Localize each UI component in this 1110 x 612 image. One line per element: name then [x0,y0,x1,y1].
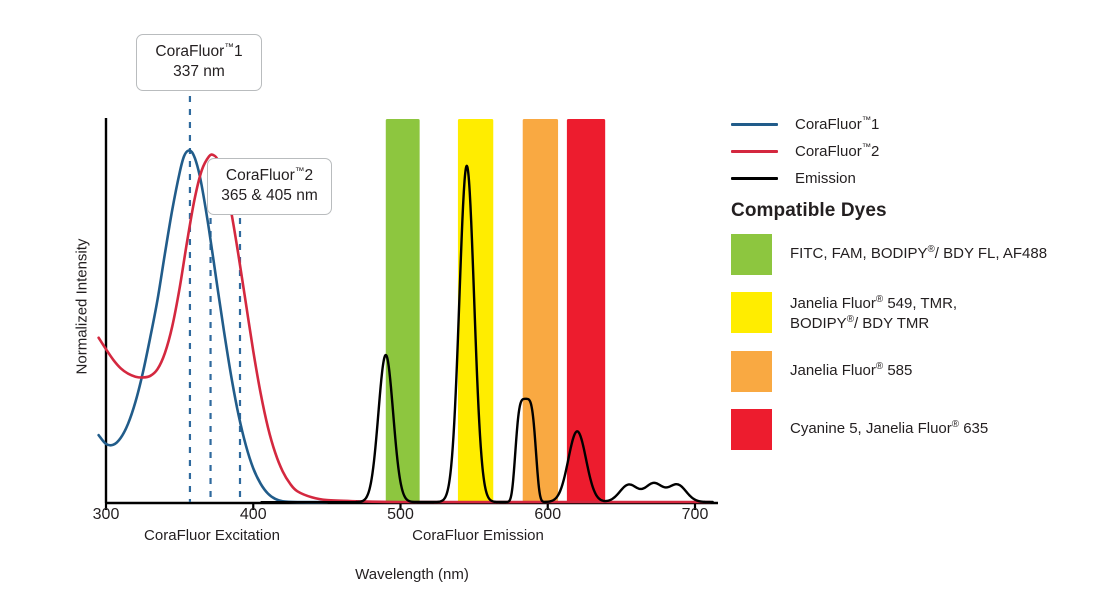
dye-label-text: 549, TMR, [883,295,957,312]
callout-corafluor2-line2: 365 & 405 nm [221,186,318,206]
region-label-excitation: CoraFluor Excitation [144,527,280,544]
callout-corafluor2-line1: CoraFluor™2 [221,166,318,186]
dye-label-2: Janelia Fluor® 549, TMR,BODIPY®/ BDY TMR [790,292,957,334]
callout-corafluor1: CoraFluor™1 337 nm [136,34,262,91]
dye-label-line: FITC, FAM, BODIPY®/ BDY FL, AF488 [790,244,1047,264]
dye-row-2: Janelia Fluor® 549, TMR,BODIPY®/ BDY TMR [731,292,1101,334]
dye-label-line: Janelia Fluor® 549, TMR, [790,294,957,314]
dye-label-text: Janelia Fluor [790,362,876,379]
x-tick-label-500: 500 [387,506,414,524]
legend-row-1: CoraFluor™1 [731,111,1091,138]
dye-row-1: FITC, FAM, BODIPY®/ BDY FL, AF488 [731,234,1101,275]
legend-label-suffix: 1 [871,116,879,133]
dye-color-swatch [731,409,772,450]
trademark-symbol: ™ [862,142,871,152]
registered-symbol: ® [952,419,959,430]
legend-row-3: Emission [731,165,1091,192]
trademark-symbol: ™ [862,115,871,125]
dye-label-text: Janelia Fluor [790,295,876,312]
dye-label-line: BODIPY®/ BDY TMR [790,314,957,334]
registered-symbol: ® [847,314,854,325]
dye-color-swatch [731,351,772,392]
dye-label-text: Cyanine 5, Janelia Fluor [790,420,952,437]
dye-color-swatch [731,234,772,275]
registered-symbol: ® [928,244,935,255]
dye-row-3: Janelia Fluor® 585 [731,351,1101,392]
figure-root: CoraFluor™1 337 nm CoraFluor™2 365 & 405… [0,0,1110,612]
dye-label-3: Janelia Fluor® 585 [790,351,912,381]
orange-band [523,119,558,503]
dye-label-text: / BDY FL, AF488 [935,245,1047,262]
green-band [386,119,420,503]
legend-label-1: CoraFluor™1 [795,116,879,133]
callout-corafluor1-line2: 337 nm [150,62,248,82]
callout-corafluor2: CoraFluor™2 365 & 405 nm [207,158,332,215]
legend-label-text: CoraFluor [795,143,862,160]
red-band [567,119,605,503]
dye-label-text: FITC, FAM, BODIPY [790,245,928,262]
trademark-symbol: ™ [224,42,234,53]
region-label-emission: CoraFluor Emission [412,527,544,544]
dye-row-4: Cyanine 5, Janelia Fluor® 635 [731,409,1101,450]
y-axis-title: Normalized Intensity [74,217,91,397]
x-axis-title: Wavelength (nm) [355,566,469,583]
line-swatch-icon [731,150,778,153]
compatible-dyes-heading: Compatible Dyes [731,200,887,222]
x-tick-label-700: 700 [682,506,709,524]
legend-label-suffix: 2 [871,143,879,160]
legend-label-2: CoraFluor™2 [795,143,879,160]
dye-label-text: 635 [959,420,988,437]
dye-label-line: Janelia Fluor® 585 [790,361,912,381]
dye-label-line: Cyanine 5, Janelia Fluor® 635 [790,419,988,439]
trademark-symbol: ™ [295,166,305,177]
dye-label-text: 585 [883,362,912,379]
legend-series-list: CoraFluor™1CoraFluor™2Emission [731,111,1091,192]
legend-label-3: Emission [795,170,856,187]
compatible-dyes-list: FITC, FAM, BODIPY®/ BDY FL, AF488Janelia… [731,234,1101,467]
line-swatch-icon [731,123,778,126]
line-swatch-icon [731,177,778,180]
callout-corafluor1-line1: CoraFluor™1 [150,42,248,62]
x-tick-label-600: 600 [534,506,561,524]
dye-label-1: FITC, FAM, BODIPY®/ BDY FL, AF488 [790,234,1047,264]
dye-label-text: BODIPY [790,315,847,332]
legend-row-2: CoraFluor™2 [731,138,1091,165]
dye-color-swatch [731,292,772,333]
x-tick-label-400: 400 [240,506,267,524]
legend-label-text: Emission [795,170,856,187]
dye-label-4: Cyanine 5, Janelia Fluor® 635 [790,409,988,439]
legend-label-text: CoraFluor [795,116,862,133]
x-tick-label-300: 300 [93,506,120,524]
dye-label-text: / BDY TMR [854,315,929,332]
